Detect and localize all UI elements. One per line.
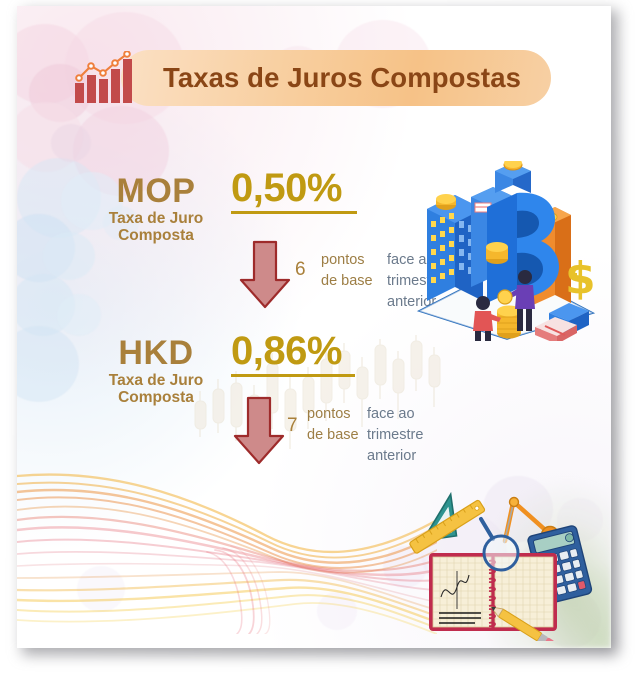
trend-arrow-wrapper-mop [237,240,293,310]
value-underline-hkd [231,374,355,377]
change-amount-hkd: 7 [287,416,298,435]
currency-sublabel-line1: Taxa de Juro [91,210,221,228]
currency-sublabel-line1: Taxa de Juro [91,372,221,390]
page-title: Taxas de Juros Compostas [163,62,521,94]
bank-building-isometric-illustration: $ [409,161,599,341]
arrow-down-icon [237,240,293,310]
change-unit-line1: pontos [307,404,359,425]
currency-sublabel-hkd: Taxa de Juro Composta [91,372,221,407]
currency-column-hkd: HKD Taxa de Juro Composta [91,336,221,407]
comparison-line3: anterior [367,446,423,467]
currency-sublabel-mop: Taxa de Juro Composta [91,210,221,245]
currency-sublabel-line2: Composta [91,389,221,407]
svg-text:$: $ [565,253,596,304]
currency-code-mop: MOP [91,174,221,209]
change-unit-line2: de base [307,425,359,446]
currency-sublabel-line2: Composta [91,227,221,245]
value-column-hkd: 0,86% [231,330,366,377]
comparison-text-hkd: face ao trimestre anterior [367,404,423,467]
infographic-root: Taxas de Juros Compostas MOP Taxa de Jur… [0,0,644,681]
change-unit-line2: de base [321,271,373,292]
change-unit-line1: pontos [321,250,373,271]
rate-value-hkd: 0,86% [231,330,366,372]
change-amount-mop: 6 [295,260,306,279]
comparison-line2: trimestre [367,425,423,446]
comparison-line1: face ao [367,404,423,425]
change-unit-hkd: pontos de base [307,404,359,445]
title-pill: Taxas de Juros Compostas [121,50,551,106]
rate-value-mop: 0,50% [231,167,366,209]
trend-arrow-wrapper-hkd [231,396,287,466]
header: Taxas de Juros Compostas [73,50,551,106]
arrow-down-icon [231,396,287,466]
infographic-card: Taxas de Juros Compostas MOP Taxa de Jur… [17,6,611,648]
change-unit-mop: pontos de base [321,250,373,291]
currency-column-mop: MOP Taxa de Juro Composta [91,174,221,245]
currency-code-hkd: HKD [91,336,221,371]
value-column-mop: 0,50% [231,167,366,214]
bar-chart-trend-icon [73,51,135,105]
value-underline-mop [231,211,357,214]
desk-tools-illustration [399,491,604,641]
